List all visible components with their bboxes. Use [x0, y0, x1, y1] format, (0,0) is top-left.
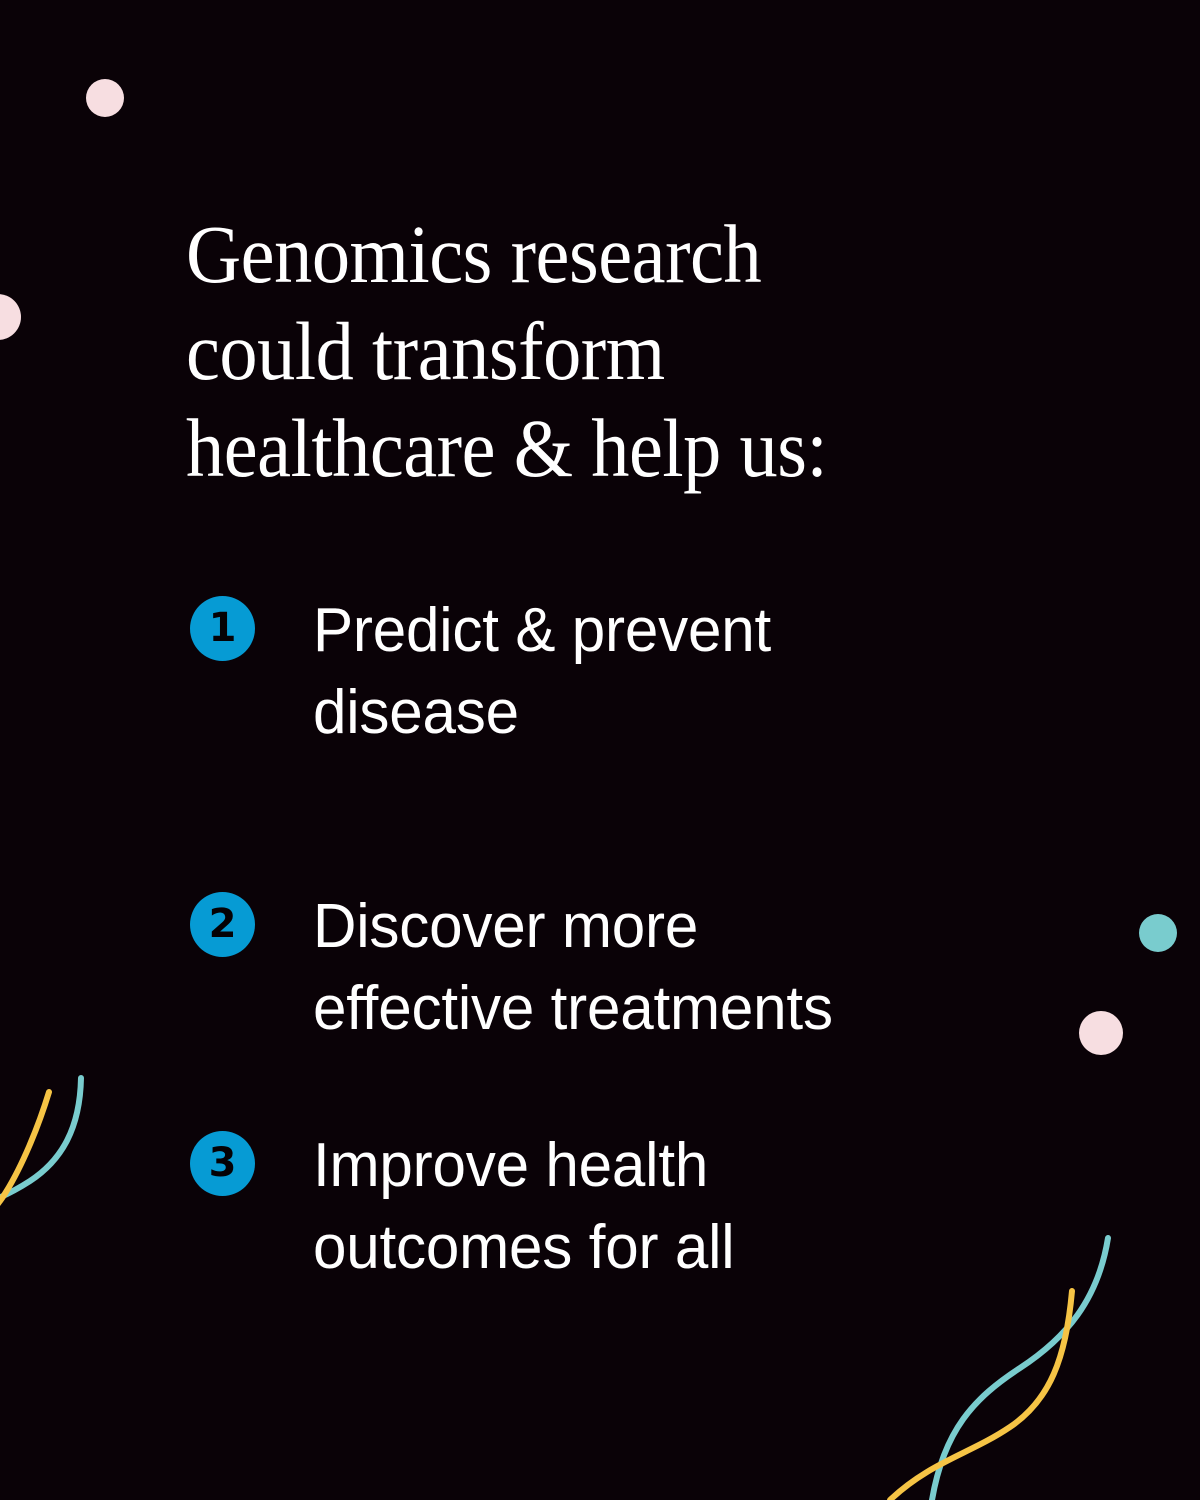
list-item: 1 Predict & prevent disease	[190, 590, 785, 754]
social-card: Genomics research could transform health…	[0, 0, 1200, 1500]
page-title: Genomics research could transform health…	[186, 206, 1014, 497]
list-number-badge-2: 2	[190, 892, 255, 957]
list-item-text-3: Improve health outcomes for all	[313, 1125, 734, 1289]
badge-number-label: 3	[190, 1131, 255, 1196]
list-item-text-2: Discover more effective treatments	[313, 886, 833, 1050]
list-item: 2 Discover more effective treatments	[190, 886, 849, 1050]
badge-number-label: 1	[190, 596, 255, 661]
dot-pink-top-left	[86, 79, 124, 117]
list-number-badge-3: 3	[190, 1131, 255, 1196]
list-number-badge-1: 1	[190, 596, 255, 661]
dot-teal-right	[1139, 914, 1177, 952]
dot-pink-right-lower	[1079, 1011, 1123, 1055]
list-item: 3 Improve health outcomes for all	[190, 1125, 747, 1289]
curve-yellow-bottom-right	[890, 1291, 1072, 1500]
curve-teal-bottom-left	[0, 1078, 81, 1200]
list-item-text-1: Predict & prevent disease	[313, 590, 771, 754]
badge-number-label: 2	[190, 892, 255, 957]
curve-yellow-bottom-left	[0, 1092, 49, 1216]
curve-teal-bottom-right	[932, 1238, 1108, 1500]
dot-pink-left-edge	[0, 294, 21, 340]
